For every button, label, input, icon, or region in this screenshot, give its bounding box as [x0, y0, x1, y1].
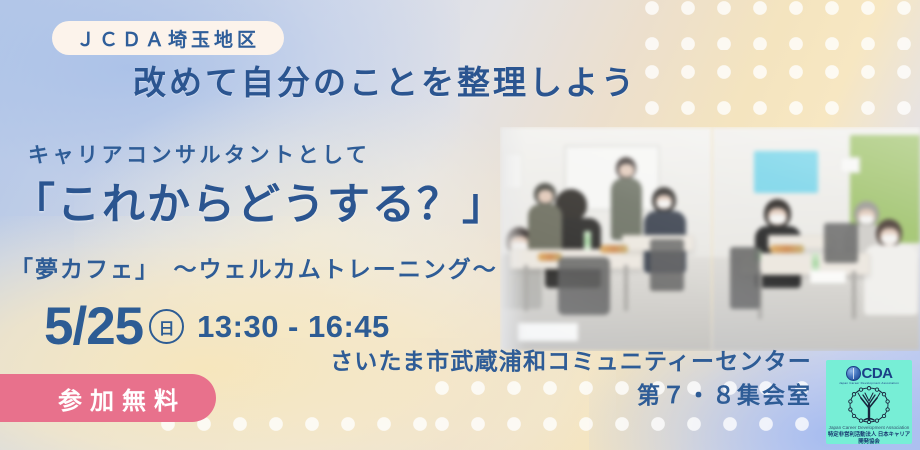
- page-title: 改めて自分のことを整理しよう: [133, 56, 637, 104]
- venue-block: さいたま市武蔵浦和コミュニティーセンター 第７・８集会室: [330, 345, 812, 412]
- subtitle-kana: キャリアコンサルタントとして: [28, 139, 370, 169]
- jcda-caption-en: Japan Career Development Association: [829, 425, 910, 430]
- dot-pattern-right: [630, 50, 920, 130]
- workshop-photo-left: [500, 127, 712, 351]
- jcda-wordmark-text: CDA: [862, 365, 893, 382]
- jcda-logo: CDA Japan Career Development Association: [826, 360, 912, 444]
- tree-emblem-icon: [844, 386, 894, 424]
- event-banner: ＪＣＤＡ埼玉地区 改めて自分のことを整理しよう キャリアコンサルタントとして 「…: [0, 0, 920, 450]
- quote-title: 「これからどうする？」: [12, 170, 507, 232]
- dot-pattern-top-right: [630, 0, 920, 50]
- globe-icon: [846, 366, 861, 381]
- event-time: 13:30 - 16:45: [197, 309, 390, 345]
- event-date: 5/25: [44, 300, 143, 353]
- fee-badge: 参加無料: [0, 374, 216, 422]
- jcda-tagline-small: Japan Career Development Association: [839, 381, 899, 385]
- venue-line-1: さいたま市武蔵浦和コミュニティーセンター: [330, 345, 812, 378]
- jcda-wordmark: CDA: [846, 365, 893, 382]
- weekday-badge: 日: [149, 309, 184, 344]
- jcda-caption-jp-org: 特定非営利活動法人 日本キャリア開発協会: [826, 432, 912, 444]
- workshop-photo-right: [712, 127, 920, 351]
- photo-collage: [500, 127, 920, 351]
- organizer-badge: ＪＣＤＡ埼玉地区: [52, 21, 284, 55]
- program-line: 「夢カフェ」 〜ウェルカムトレーニング〜: [10, 250, 498, 284]
- venue-line-2: 第７・８集会室: [330, 379, 812, 412]
